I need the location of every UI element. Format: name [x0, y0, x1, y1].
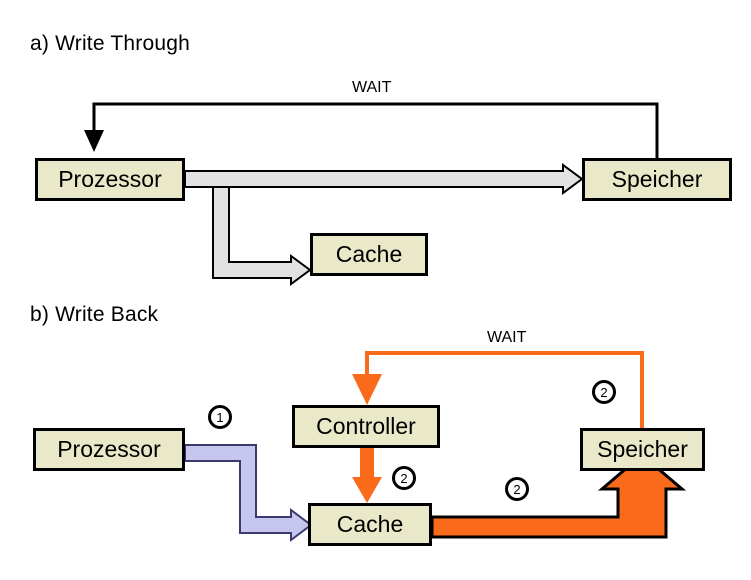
node-label: Prozessor	[58, 166, 162, 193]
node-speicher-b[interactable]: Speicher	[580, 428, 705, 471]
step-marker-2-speicher: 2	[592, 380, 616, 404]
diagram-canvas: a) Write Through WAIT Prozessor Cache Sp…	[0, 0, 751, 580]
node-prozessor-a[interactable]: Prozessor	[35, 158, 185, 201]
step-marker-1: 1	[208, 405, 232, 429]
arrow-controller-to-cache-b	[352, 448, 382, 503]
node-cache-b[interactable]: Cache	[308, 503, 432, 546]
step-marker-2-cache: 2	[505, 477, 529, 501]
step-marker-2-controller: 2	[392, 466, 416, 490]
step-marker-text: 2	[513, 482, 520, 497]
arrow-prozessor-to-cache-b	[185, 445, 311, 540]
node-speicher-a[interactable]: Speicher	[582, 158, 732, 201]
node-label: Controller	[316, 413, 416, 440]
wait-label-a: WAIT	[352, 79, 391, 97]
node-label: Cache	[336, 241, 402, 268]
step-marker-text: 2	[600, 385, 607, 400]
node-label: Prozessor	[57, 436, 161, 463]
node-label: Cache	[337, 511, 403, 538]
node-prozessor-b[interactable]: Prozessor	[33, 428, 185, 471]
node-label: Speicher	[612, 166, 703, 193]
node-label: Speicher	[597, 436, 688, 463]
wait-label-b: WAIT	[487, 329, 526, 347]
step-marker-text: 2	[400, 471, 407, 486]
step-marker-text: 1	[216, 410, 223, 425]
node-controller-b[interactable]: Controller	[292, 405, 440, 448]
node-cache-a[interactable]: Cache	[310, 233, 428, 276]
